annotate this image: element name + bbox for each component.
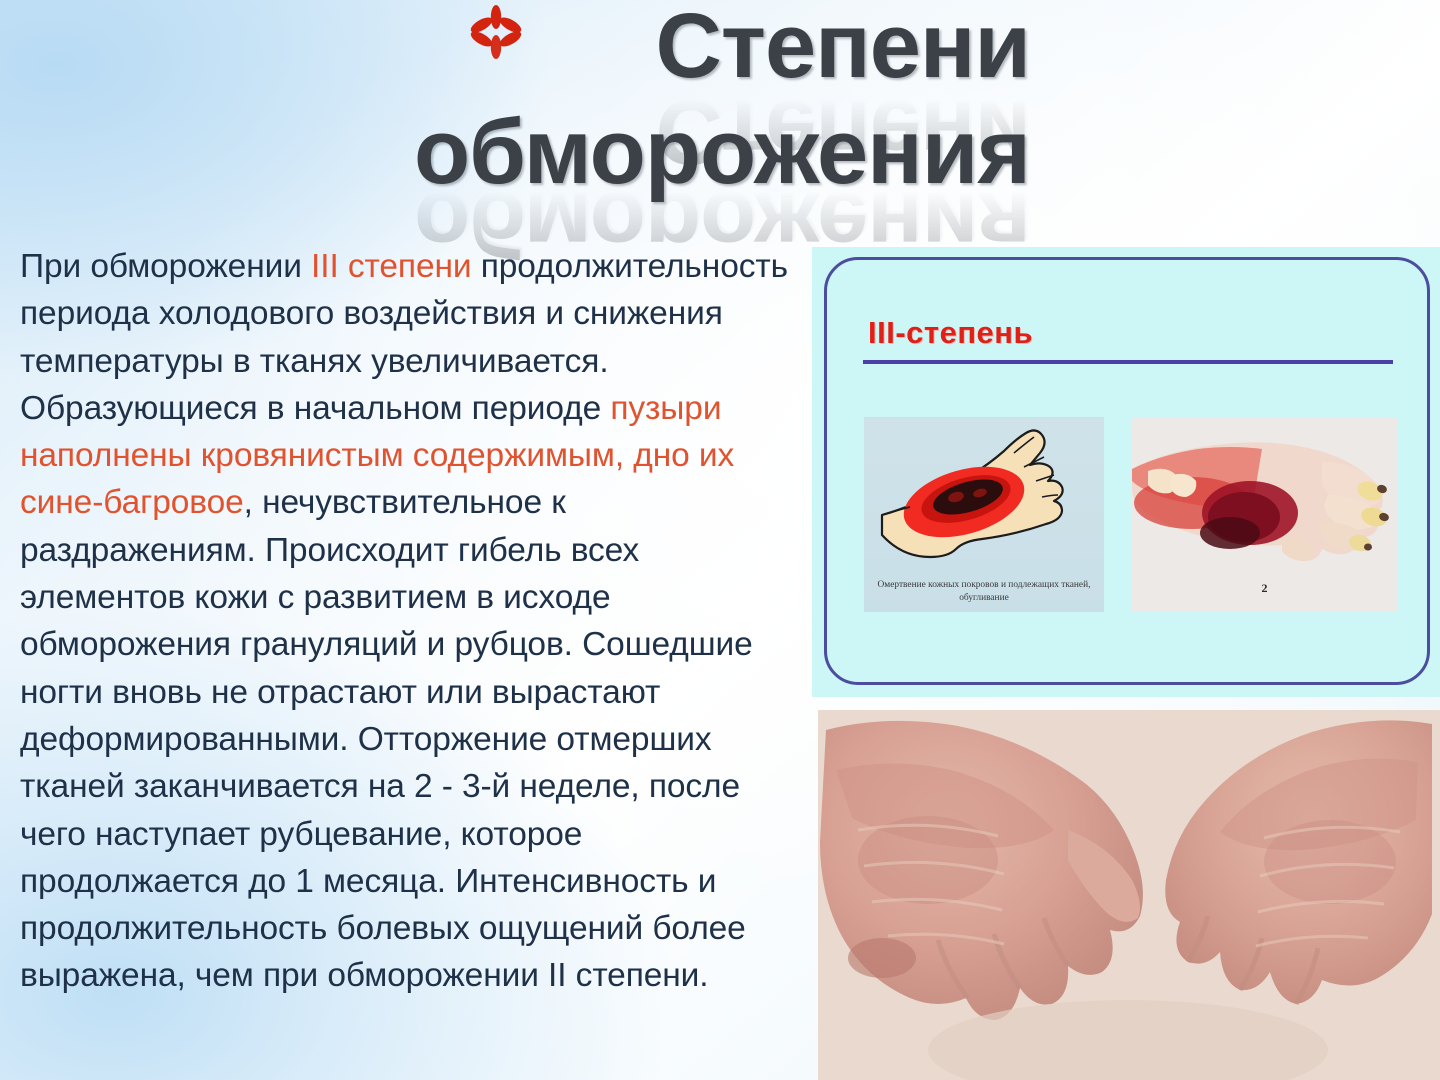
title-line-2: обморожения обморожения <box>0 90 1030 196</box>
highlight-degree-three: III степени <box>311 248 471 285</box>
panel-divider <box>863 360 1393 364</box>
hand-necrosis-drawing <box>1132 417 1397 587</box>
figure-label: 2 <box>1132 581 1397 596</box>
frostbitten-hand-illustration: 2 <box>1132 417 1397 612</box>
figure-caption: Омертвение кожных покровов и подлежащих … <box>864 579 1104 604</box>
degree-three-panel: III-степень Омертвение кожных покровов и… <box>812 247 1440 697</box>
foot-necrosis-drawing <box>864 417 1104 577</box>
panel-heading: III-степень <box>868 315 1033 351</box>
hands-photo-render <box>818 710 1440 1080</box>
frostbitten-foot-illustration: Омертвение кожных покровов и подлежащих … <box>864 417 1104 612</box>
red-asterisk-icon <box>468 4 524 60</box>
frostbite-hands-photograph <box>818 710 1440 1080</box>
text-segment: , нечувствительное к раздражениям. Проис… <box>20 484 753 994</box>
text-segment: При обморожении <box>20 248 311 285</box>
body-paragraph: При обморожении III степени продолжитель… <box>20 243 810 1000</box>
